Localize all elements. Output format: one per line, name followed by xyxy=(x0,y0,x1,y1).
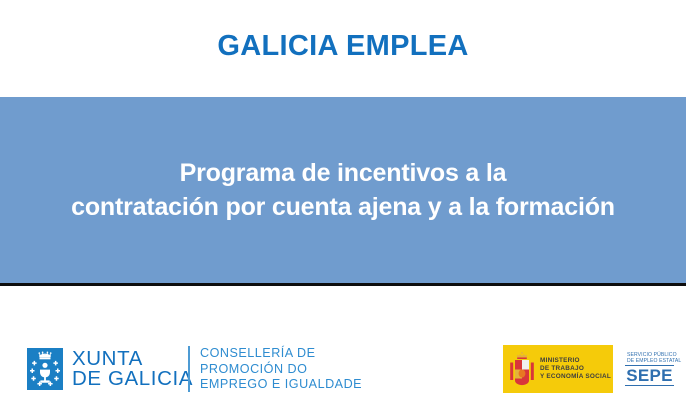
banner-line-1: Programa de incentivos a la xyxy=(180,156,507,190)
xunta-wordmark-line-1: XUNTA xyxy=(72,349,193,369)
ministerio-text: MINISTERIO DE TRABAJO Y ECONOMÍA SOCIAL xyxy=(540,357,611,382)
xunta-de-galicia-logo: XUNTA DE GALICIA xyxy=(27,348,193,390)
banner-line-2: contratación por cuenta ajena y a la for… xyxy=(71,190,615,224)
footer-logos: XUNTA DE GALICIA CONSELLERÍA DE PROMOCIÓ… xyxy=(0,286,686,410)
spain-coat-of-arms-icon xyxy=(509,351,535,387)
ministerio-line-3: Y ECONOMÍA SOCIAL xyxy=(540,373,611,381)
sepe-subtitle: SERVICIO PÚBLICO DE EMPLEO ESTATAL xyxy=(627,352,673,365)
sepe-subtitle-line-2: DE EMPLEO ESTATAL xyxy=(627,358,673,364)
sepe-logo: SERVICIO PÚBLICO DE EMPLEO ESTATAL SEPE xyxy=(613,345,686,393)
galicia-coat-of-arms-icon xyxy=(27,348,63,390)
sepe-acronym: SEPE xyxy=(625,365,674,386)
logo-divider xyxy=(188,346,190,392)
page-title: GALICIA EMPLEA xyxy=(217,32,468,65)
conselleria-line-3: EMPREGO E IGUALDADE xyxy=(200,377,362,393)
conselleria-text: CONSELLERÍA DE PROMOCIÓN DO EMPREGO E IG… xyxy=(200,346,362,393)
ministerio-logo: MINISTERIO DE TRABAJO Y ECONOMÍA SOCIAL xyxy=(503,345,613,393)
xunta-wordmark: XUNTA DE GALICIA xyxy=(72,349,193,389)
ministerio-line-2: DE TRABAJO xyxy=(540,365,611,373)
conselleria-line-1: CONSELLERÍA DE xyxy=(200,346,362,362)
program-banner: Programa de incentivos a la contratación… xyxy=(0,97,686,283)
ministerio-line-1: MINISTERIO xyxy=(540,357,611,365)
conselleria-line-2: PROMOCIÓN DO xyxy=(200,362,362,378)
xunta-wordmark-line-2: DE GALICIA xyxy=(72,369,193,389)
title-section: GALICIA EMPLEA xyxy=(0,0,686,97)
